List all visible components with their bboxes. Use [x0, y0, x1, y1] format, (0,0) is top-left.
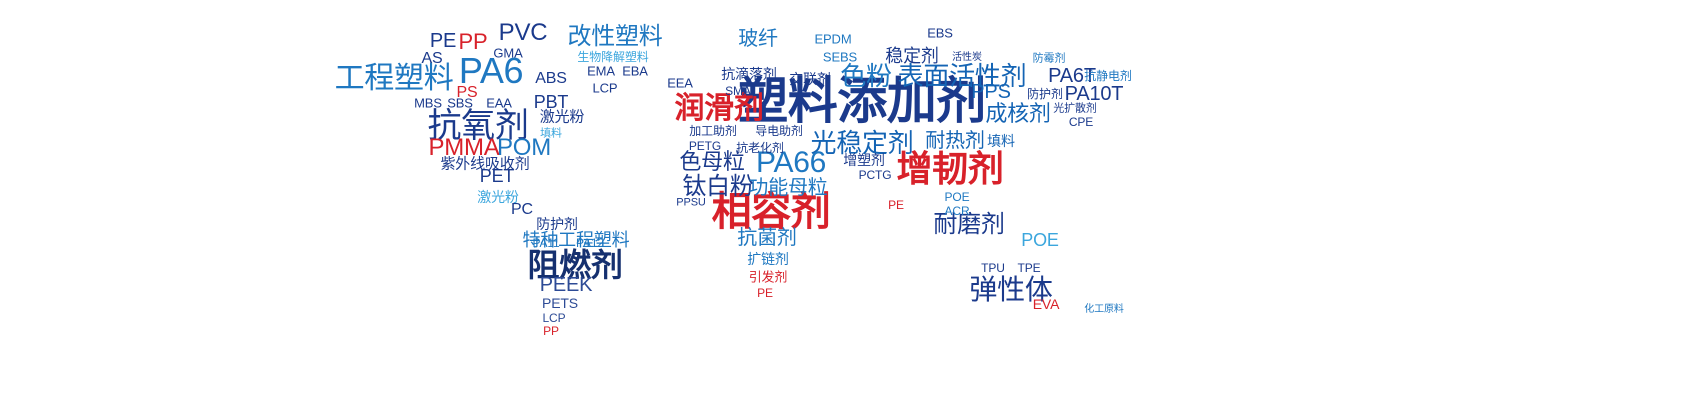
word-cloud-term[interactable]: 防霉剂	[1033, 54, 1066, 65]
word-cloud-term[interactable]: 玻纤	[738, 29, 778, 49]
word-cloud-term[interactable]: 润滑剂	[674, 94, 763, 124]
word-cloud-term[interactable]: 导电助剂	[755, 125, 803, 137]
word-cloud-term[interactable]: SEBS	[823, 51, 857, 64]
word-cloud-term[interactable]: 色粉	[840, 63, 891, 89]
word-cloud-term[interactable]: PEEK	[540, 275, 593, 295]
word-cloud-term[interactable]: 耐热剂	[925, 131, 984, 151]
word-cloud-term[interactable]: 活性炭	[952, 53, 982, 63]
word-cloud-term[interactable]: EVA	[1033, 297, 1060, 311]
word-cloud-term[interactable]: 增塑剂	[843, 153, 885, 167]
word-cloud-term[interactable]: POE	[945, 191, 970, 203]
word-cloud-term[interactable]: 交联剂	[789, 72, 831, 86]
word-cloud-term[interactable]: ACR	[945, 205, 970, 217]
word-cloud-canvas: 塑料添加剂相容剂增韧剂阻燃剂润滑剂抗氧剂工程塑料PA6表面活性剂光稳定剂PA66…	[0, 0, 1707, 400]
word-cloud-term[interactable]: ABS	[535, 71, 567, 87]
word-cloud-term[interactable]: PCTG	[859, 169, 892, 181]
word-cloud-term[interactable]: 引发剂	[749, 271, 788, 284]
word-cloud-term[interactable]: 填料	[987, 134, 1015, 148]
word-cloud-term[interactable]: CPE	[1069, 116, 1093, 128]
word-cloud-term[interactable]: 抗老化剂	[736, 142, 784, 154]
word-cloud-term[interactable]: PETG	[689, 140, 721, 152]
word-cloud-term[interactable]: PA12	[576, 237, 604, 249]
word-cloud-term[interactable]: PPSU	[676, 198, 706, 209]
word-cloud-term[interactable]: PP	[459, 31, 488, 53]
word-cloud-term[interactable]: 防护剂	[1027, 88, 1063, 100]
word-cloud-term[interactable]: AS	[421, 51, 442, 67]
word-cloud-term[interactable]: 工程塑料	[335, 64, 454, 94]
word-cloud-term[interactable]: PP	[543, 325, 559, 337]
word-cloud-term[interactable]: 抗菌剂	[737, 228, 796, 248]
word-cloud-term[interactable]: PVC	[499, 21, 548, 45]
word-cloud-term[interactable]: PPS	[971, 82, 1010, 102]
word-cloud-term[interactable]: 功能母粒	[748, 178, 827, 198]
word-cloud-term[interactable]: 化工原料	[1084, 305, 1124, 315]
word-cloud-term[interactable]: PC	[511, 202, 533, 218]
word-cloud-term[interactable]: PA10T	[1065, 84, 1124, 104]
word-cloud-term[interactable]: PA11	[532, 237, 559, 249]
word-cloud-term[interactable]: PE	[430, 31, 456, 51]
word-cloud-term[interactable]: 改性塑料	[567, 25, 662, 49]
word-cloud-term[interactable]: POE	[1021, 231, 1058, 249]
word-cloud-term[interactable]: TPE	[1018, 262, 1041, 274]
word-cloud-term[interactable]: EEA	[667, 77, 693, 90]
word-cloud-term[interactable]: 成核剂	[985, 103, 1050, 125]
word-cloud-term[interactable]: EAA	[486, 97, 512, 110]
word-cloud-term[interactable]: PE	[757, 287, 773, 299]
word-cloud-term[interactable]: GMA	[493, 47, 522, 60]
word-cloud-term[interactable]: SMA	[725, 85, 751, 97]
word-cloud-term[interactable]: EPDM	[814, 33, 851, 46]
word-cloud-term[interactable]: 抗滴落剂	[721, 67, 776, 81]
word-cloud-term[interactable]: PE	[888, 199, 904, 211]
word-cloud-term[interactable]: TPU	[981, 262, 1005, 274]
word-cloud-term[interactable]: EBA	[622, 65, 648, 78]
word-cloud-term[interactable]: 生物降解塑料	[577, 51, 648, 63]
word-cloud-term[interactable]: SBS	[447, 97, 473, 110]
word-cloud-term[interactable]: 抗静电剂	[1084, 70, 1132, 82]
word-cloud-term[interactable]: LCP	[543, 312, 566, 324]
word-cloud-term[interactable]: 钛白粉	[682, 175, 753, 199]
word-cloud-term[interactable]: 稳定剂	[885, 47, 938, 65]
word-cloud-term[interactable]: EMA	[587, 65, 615, 78]
word-cloud-term[interactable]: PETS	[542, 296, 578, 310]
word-cloud-term[interactable]: 光扩散剂	[1053, 104, 1097, 115]
word-cloud-term[interactable]: EBS	[927, 27, 953, 40]
word-cloud-term[interactable]: MBS	[414, 97, 442, 110]
word-cloud-term[interactable]: 激光粉	[540, 110, 585, 125]
word-cloud-term[interactable]: 色母粒	[679, 151, 744, 173]
word-cloud-term[interactable]: 紫外线吸收剂	[440, 157, 529, 172]
word-cloud-term[interactable]: LCP	[593, 82, 618, 95]
word-cloud-term[interactable]: 防护剂	[536, 217, 578, 231]
word-cloud-term[interactable]: 填料	[540, 129, 562, 140]
word-cloud-term[interactable]: 扩链剂	[747, 252, 789, 266]
word-cloud-term[interactable]: 加工助剂	[689, 125, 737, 137]
